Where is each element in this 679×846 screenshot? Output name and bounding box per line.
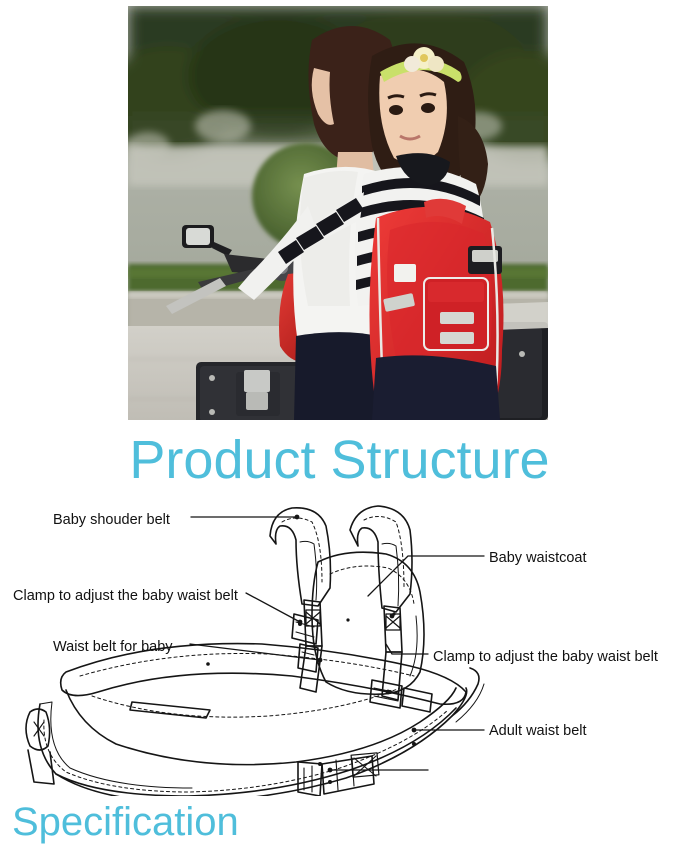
left-shoulder-strap	[270, 508, 331, 606]
product-photo	[128, 6, 548, 420]
product-photo-illustration	[128, 6, 548, 420]
label-adult-waist-belt: Adult waist belt	[489, 722, 587, 740]
label-baby-waistcoat: Baby waistcoat	[489, 549, 587, 567]
next-section-title: Specification	[12, 798, 239, 846]
label-waist-belt-for-baby: Waist belt for baby	[53, 638, 173, 656]
label-clamp-baby-waist-right: Clamp to adjust the baby waist belt	[433, 648, 658, 666]
child-skirt	[372, 355, 500, 420]
label-clamp-baby-waist-left: Clamp to adjust the baby waist belt	[13, 587, 238, 605]
page-title: Product Structure	[0, 428, 679, 492]
vest-body	[312, 552, 424, 694]
label-baby-shoulder-belt: Baby shouder belt	[53, 511, 170, 529]
